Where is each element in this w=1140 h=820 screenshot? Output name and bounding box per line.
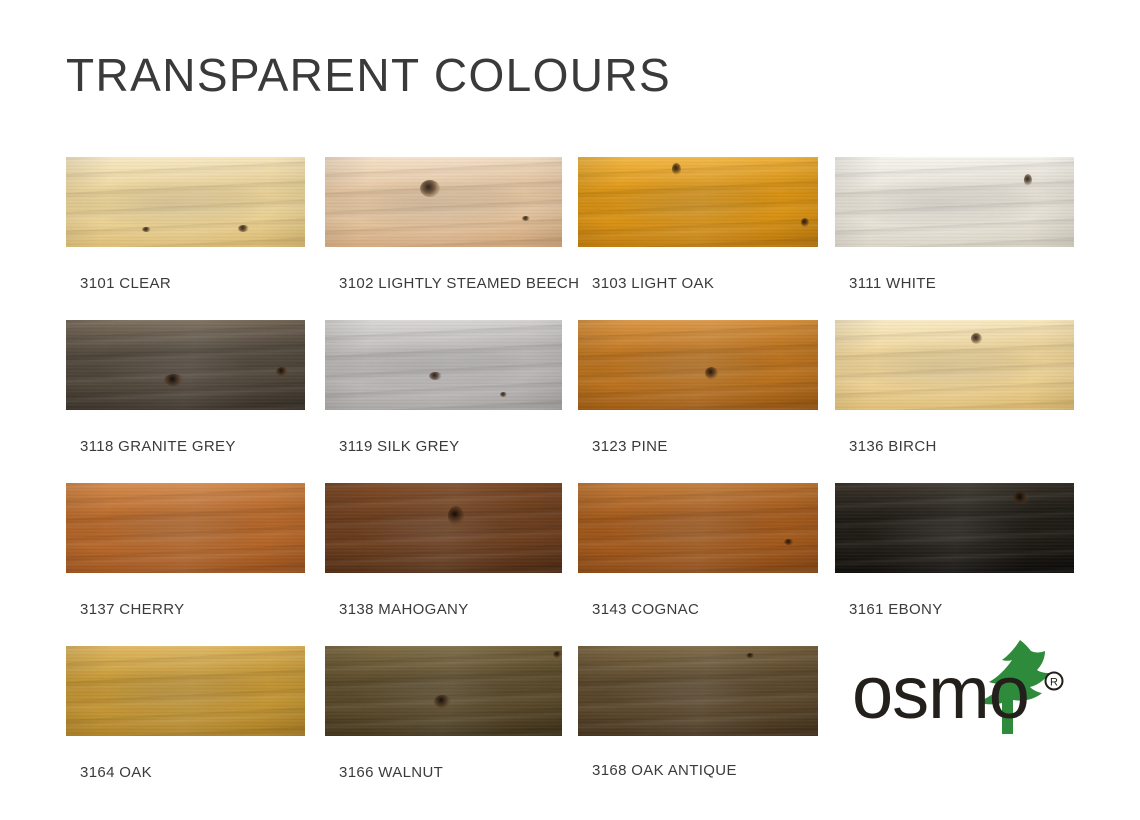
swatch-label: 3168 OAK ANTIQUE bbox=[578, 762, 818, 779]
swatch-chip-3137[interactable] bbox=[66, 483, 305, 573]
grain-arc-texture bbox=[578, 157, 818, 247]
osmo-logo: osmo R bbox=[852, 638, 1074, 736]
registered-trademark-icon: R bbox=[1046, 673, 1063, 690]
grain-band-texture bbox=[578, 157, 818, 247]
wood-knot bbox=[238, 225, 249, 232]
grain-fine-texture bbox=[325, 646, 562, 736]
wood-knot bbox=[448, 506, 464, 526]
grain-fine-texture bbox=[578, 646, 818, 736]
swatch-3166[interactable]: 3166 WALNUT bbox=[325, 646, 562, 781]
wood-knot bbox=[801, 218, 809, 227]
grain-fine-texture bbox=[66, 483, 305, 573]
grain-arc-texture bbox=[66, 157, 305, 247]
swatch-row: 3101 CLEAR3102 LIGHTLY STEAMED BEECH3103… bbox=[66, 157, 1074, 320]
grain-band-texture bbox=[578, 646, 818, 736]
swatch-label: 3102 LIGHTLY STEAMED BEECH bbox=[325, 275, 562, 292]
swatch-chip-3101[interactable] bbox=[66, 157, 305, 247]
swatch-label: 3161 EBONY bbox=[835, 601, 1074, 618]
grain-shade-texture bbox=[578, 320, 818, 410]
swatch-label: 3123 PINE bbox=[578, 438, 818, 455]
grain-arc-texture bbox=[578, 483, 818, 573]
swatch-chip-3136[interactable] bbox=[835, 320, 1074, 410]
wood-knot bbox=[420, 180, 440, 197]
grain-shade-texture bbox=[66, 157, 305, 247]
wood-knot bbox=[705, 367, 718, 379]
grain-shade-texture bbox=[835, 483, 1074, 573]
swatch-3138[interactable]: 3138 MAHOGANY bbox=[325, 483, 562, 618]
swatch-chip-3164[interactable] bbox=[66, 646, 305, 736]
grain-arc-texture bbox=[66, 646, 305, 736]
grain-fine-texture bbox=[578, 320, 818, 410]
grain-arc-texture bbox=[325, 320, 562, 410]
swatch-3161[interactable]: 3161 EBONY bbox=[835, 483, 1074, 618]
swatch-chip-3161[interactable] bbox=[835, 483, 1074, 573]
swatch-3136[interactable]: 3136 BIRCH bbox=[835, 320, 1074, 455]
grain-band-texture bbox=[578, 483, 818, 573]
swatch-chip-3111[interactable] bbox=[835, 157, 1074, 247]
grain-fine-texture bbox=[66, 646, 305, 736]
swatch-3123[interactable]: 3123 PINE bbox=[578, 320, 818, 455]
grain-band-texture bbox=[66, 320, 305, 410]
grain-shade-texture bbox=[325, 320, 562, 410]
svg-text:osmo: osmo bbox=[852, 651, 1029, 734]
swatch-label: 3103 LIGHT OAK bbox=[578, 275, 818, 292]
swatch-label: 3101 CLEAR bbox=[66, 275, 305, 292]
grain-shade-texture bbox=[66, 320, 305, 410]
swatch-row: 3137 CHERRY3138 MAHOGANY3143 COGNAC3161 … bbox=[66, 483, 1074, 646]
swatch-3168[interactable]: 3168 OAK ANTIQUE bbox=[578, 646, 818, 779]
grain-shade-texture bbox=[578, 483, 818, 573]
svg-text:R: R bbox=[1050, 677, 1058, 689]
grain-fine-texture bbox=[578, 157, 818, 247]
wood-knot bbox=[672, 163, 681, 175]
grain-arc-texture bbox=[325, 646, 562, 736]
swatch-chip-3103[interactable] bbox=[578, 157, 818, 247]
grain-arc-texture bbox=[66, 320, 305, 410]
swatch-label: 3164 OAK bbox=[66, 764, 305, 781]
grain-band-texture bbox=[835, 483, 1074, 573]
swatch-3102[interactable]: 3102 LIGHTLY STEAMED BEECH bbox=[325, 157, 562, 292]
grain-band-texture bbox=[835, 320, 1074, 410]
grain-band-texture bbox=[578, 320, 818, 410]
grain-shade-texture bbox=[835, 320, 1074, 410]
grain-fine-texture bbox=[835, 157, 1074, 247]
grain-fine-texture bbox=[325, 320, 562, 410]
wood-knot bbox=[276, 367, 288, 376]
swatch-label: 3136 BIRCH bbox=[835, 438, 1074, 455]
swatch-3101[interactable]: 3101 CLEAR bbox=[66, 157, 305, 292]
grain-arc-texture bbox=[835, 483, 1074, 573]
grain-fine-texture bbox=[66, 320, 305, 410]
grain-band-texture bbox=[325, 320, 562, 410]
wood-knot bbox=[1012, 492, 1030, 504]
swatch-label: 3143 COGNAC bbox=[578, 601, 818, 618]
grain-arc-texture bbox=[835, 320, 1074, 410]
grain-fine-texture bbox=[66, 157, 305, 247]
wood-knot bbox=[500, 392, 507, 397]
wood-knot bbox=[784, 539, 794, 545]
swatch-label: 3118 GRANITE GREY bbox=[66, 438, 305, 455]
swatch-row: 3118 GRANITE GREY3119 SILK GREY3123 PINE… bbox=[66, 320, 1074, 483]
swatch-3119[interactable]: 3119 SILK GREY bbox=[325, 320, 562, 455]
swatch-label: 3138 MAHOGANY bbox=[325, 601, 562, 618]
swatch-3143[interactable]: 3143 COGNAC bbox=[578, 483, 818, 618]
grain-shade-texture bbox=[325, 483, 562, 573]
grain-shade-texture bbox=[66, 646, 305, 736]
swatch-label: 3111 WHITE bbox=[835, 275, 1074, 292]
page-title: TRANSPARENT COLOURS bbox=[66, 52, 671, 98]
swatch-chip-3123[interactable] bbox=[578, 320, 818, 410]
wood-knot bbox=[971, 333, 982, 344]
grain-band-texture bbox=[66, 157, 305, 247]
swatch-chip-3118[interactable] bbox=[66, 320, 305, 410]
wood-knot bbox=[164, 374, 184, 386]
wood-knot bbox=[746, 653, 755, 658]
wood-knot bbox=[429, 372, 442, 380]
swatch-chip-3102[interactable] bbox=[325, 157, 562, 247]
grain-shade-texture bbox=[66, 483, 305, 573]
grain-arc-texture bbox=[835, 157, 1074, 247]
grain-shade-texture bbox=[835, 157, 1074, 247]
swatch-3137[interactable]: 3137 CHERRY bbox=[66, 483, 305, 618]
swatch-3111[interactable]: 3111 WHITE bbox=[835, 157, 1074, 292]
wood-knot bbox=[553, 651, 562, 658]
swatch-3118[interactable]: 3118 GRANITE GREY bbox=[66, 320, 305, 455]
grain-shade-texture bbox=[578, 157, 818, 247]
swatch-label: 3166 WALNUT bbox=[325, 764, 562, 781]
swatch-chip-3168[interactable] bbox=[578, 646, 818, 736]
grain-fine-texture bbox=[578, 483, 818, 573]
grain-shade-texture bbox=[325, 157, 562, 247]
grain-arc-texture bbox=[325, 157, 562, 247]
grain-band-texture bbox=[325, 483, 562, 573]
wood-knot bbox=[142, 227, 151, 232]
grain-band-texture bbox=[325, 646, 562, 736]
grain-arc-texture bbox=[325, 483, 562, 573]
swatch-chip-3138[interactable] bbox=[325, 483, 562, 573]
grain-shade-texture bbox=[325, 646, 562, 736]
swatch-chip-3166[interactable] bbox=[325, 646, 562, 736]
grain-band-texture bbox=[66, 646, 305, 736]
grain-band-texture bbox=[325, 157, 562, 247]
swatch-3164[interactable]: 3164 OAK bbox=[66, 646, 305, 781]
wood-knot bbox=[434, 695, 451, 708]
grain-fine-texture bbox=[325, 157, 562, 247]
grain-shade-texture bbox=[578, 646, 818, 736]
swatch-chip-3143[interactable] bbox=[578, 483, 818, 573]
grain-fine-texture bbox=[835, 483, 1074, 573]
grain-band-texture bbox=[835, 157, 1074, 247]
grain-arc-texture bbox=[66, 483, 305, 573]
swatch-label: 3119 SILK GREY bbox=[325, 438, 562, 455]
grain-fine-texture bbox=[325, 483, 562, 573]
swatch-label: 3137 CHERRY bbox=[66, 601, 305, 618]
grain-band-texture bbox=[66, 483, 305, 573]
swatch-chip-3119[interactable] bbox=[325, 320, 562, 410]
wood-knot bbox=[522, 216, 530, 221]
grain-fine-texture bbox=[835, 320, 1074, 410]
wood-knot bbox=[1024, 174, 1032, 186]
swatch-3103[interactable]: 3103 LIGHT OAK bbox=[578, 157, 818, 292]
grain-arc-texture bbox=[578, 320, 818, 410]
grain-arc-texture bbox=[578, 646, 818, 736]
